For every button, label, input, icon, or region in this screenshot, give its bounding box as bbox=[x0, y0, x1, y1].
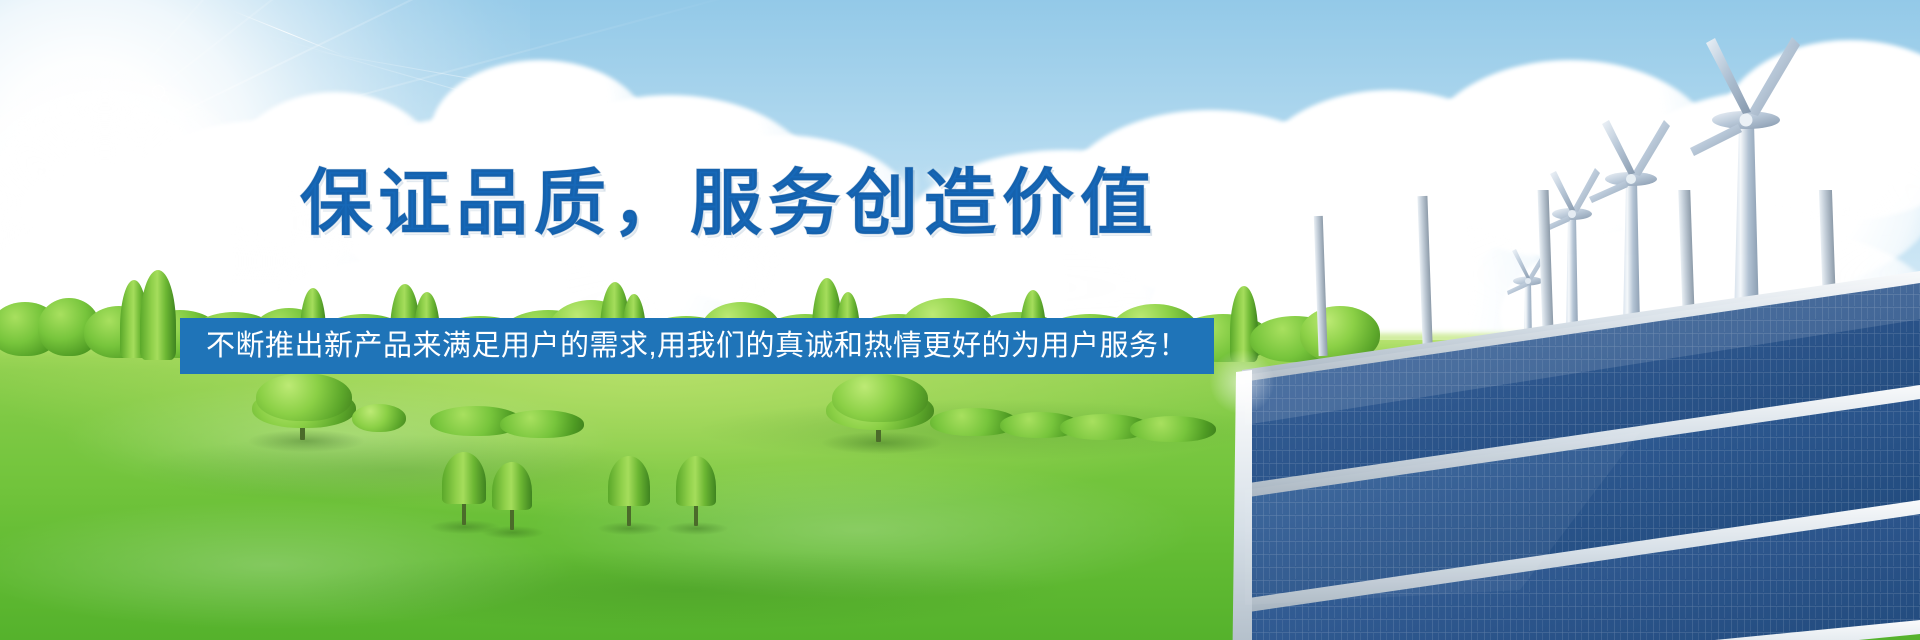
tree-icon bbox=[832, 374, 928, 422]
grass-shade bbox=[300, 550, 1060, 630]
grass-shade bbox=[140, 435, 660, 505]
grass-highlight bbox=[0, 500, 580, 630]
subtitle-text: 不断推出新产品来满足用户的需求,用我们的真诚和热情更好的为用户服务！ bbox=[206, 332, 1188, 361]
lens-flare-dot bbox=[160, 95, 169, 104]
tree-icon bbox=[500, 410, 584, 438]
subtitle-bar: 不断推出新产品来满足用户的需求,用我们的真诚和热情更好的为用户服务！ bbox=[180, 318, 1214, 374]
page-title: 保证品质，服务创造价值 bbox=[300, 168, 1158, 240]
tree-icon bbox=[256, 373, 352, 421]
tree-shadow bbox=[822, 432, 942, 454]
tree-icon bbox=[352, 404, 406, 432]
tree-icon bbox=[1130, 416, 1216, 442]
hero-banner: 保证品质，服务创造价值 不断推出新产品来满足用户的需求,用我们的真诚和热情更好的… bbox=[0, 0, 1920, 640]
tree-shadow bbox=[248, 430, 364, 452]
